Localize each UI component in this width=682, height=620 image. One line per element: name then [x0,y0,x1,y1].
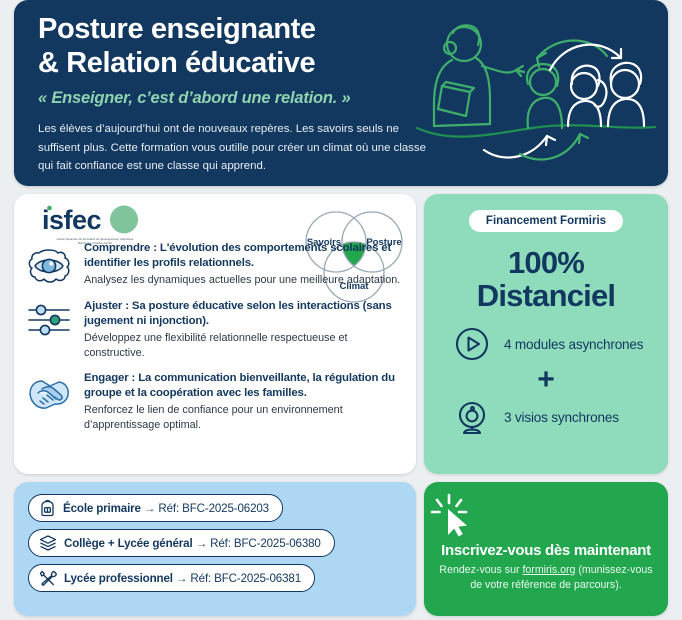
tools-icon [39,569,57,587]
financing-card: Financement Formiris 100% Distanciel 4 m… [424,194,668,474]
cta-title: Inscrivez-vous dès maintenant [424,542,668,559]
handshake-icon [26,370,74,418]
click-cursor-icon [424,492,668,538]
cta-body-before: Rendez-vous sur [439,564,522,576]
pillar-item: Engager : La communication bienveillante… [26,370,404,432]
pillar-heading: Comprendre : L'évolution des comportemen… [84,241,404,271]
pillar-item: Comprendre : L'évolution des comportemen… [26,240,404,288]
backpack-icon [39,499,56,517]
page-title: Posture enseignante & Relation éducative [38,12,428,80]
financing-headline-line-2: Distanciel [424,279,668,312]
financing-headline: 100% Distanciel [424,246,668,313]
reference-code: Réf: BFC-2025-06380 [210,537,321,550]
cta-description: Rendez-vous sur formiris.org (munissez-v… [424,563,668,593]
cta-link[interactable]: formiris.org [522,564,575,576]
reference-code: Réf: BFC-2025-06203 [158,502,269,515]
play-circle-icon [454,326,490,362]
teacher-students-dialogue-illustration [412,8,662,180]
reference-chip-college-lycee-general[interactable]: Collège + Lycée général → Réf: BFC-2025-… [28,529,335,557]
reference-code: Réf: BFC-2025-06381 [190,572,301,585]
sliders-icon [26,298,74,346]
hero-title-line-1: Posture enseignante [38,12,428,46]
content-row-bottom: École primaire → Réf: BFC-2025-06203 Col… [14,482,668,616]
infographic-page: Posture enseignante & Relation éducative… [0,0,682,620]
pillar-body: Renforcez le lien de confiance pour un e… [84,403,404,433]
pillar-body: Développez une flexibilité relationnelle… [84,331,404,361]
hero-text-block: Posture enseignante & Relation éducative… [38,12,428,176]
pillar-heading: Ajuster : Sa posture éducative selon les… [84,299,404,329]
program-pillars-card: isfec Institut Supérieur de Formation de… [14,194,416,474]
cta-card[interactable]: Inscrivez-vous dès maintenant Rendez-vou… [424,482,668,616]
content-row-top: isfec Institut Supérieur de Formation de… [14,194,668,474]
hero-subtitle: « Enseigner, c’est d’abord une relation.… [38,89,428,108]
hero-banner: Posture enseignante & Relation éducative… [14,0,668,186]
webcam-icon [454,399,490,435]
reference-chip-label: Lycée professionnel → Réf: BFC-2025-0638… [64,572,301,585]
pillar-item: Ajuster : Sa posture éducative selon les… [26,298,404,360]
reference-chip-lycee-professionnel[interactable]: Lycée professionnel → Réf: BFC-2025-0638… [28,564,315,592]
status-badge: Financement Formiris [469,210,623,232]
pillar-heading: Engager : La communication bienveillante… [84,371,404,401]
financing-modality-row: 3 visios synchrones [424,399,668,435]
hero-title-line-2: & Relation éducative [38,46,428,80]
financing-modality-list: 4 modules asynchrones + [424,326,668,435]
financing-headline-line-1: 100% [424,246,668,279]
pillar-body: Analysez les dynamiques actuelles pour u… [84,273,404,288]
financing-modality-row: 4 modules asynchrones [424,326,668,362]
reference-chip-label: Collège + Lycée général → Réf: BFC-2025-… [64,537,321,550]
references-card: École primaire → Réf: BFC-2025-06203 Col… [14,482,416,616]
reference-level-label: Lycée professionnel → [64,572,190,585]
cta-content: Inscrivez-vous dès maintenant Rendez-vou… [424,492,668,593]
pillars-list: Comprendre : L'évolution des comportemen… [26,240,404,443]
brain-eye-icon [26,240,74,288]
plus-separator: + [424,366,668,393]
hero-description: Les élèves d’aujourd’hui ont de nouveaux… [38,120,428,175]
books-stack-icon [39,534,57,552]
financing-modality-label: 3 visios synchrones [504,410,619,425]
reference-level-label: Collège + Lycée général → [64,537,210,550]
reference-chip-ecole-primaire[interactable]: École primaire → Réf: BFC-2025-06203 [28,494,283,522]
financing-modality-label: 4 modules asynchrones [504,337,643,352]
reference-chip-label: École primaire → Réf: BFC-2025-06203 [63,502,269,515]
reference-level-label: École primaire → [63,502,158,515]
